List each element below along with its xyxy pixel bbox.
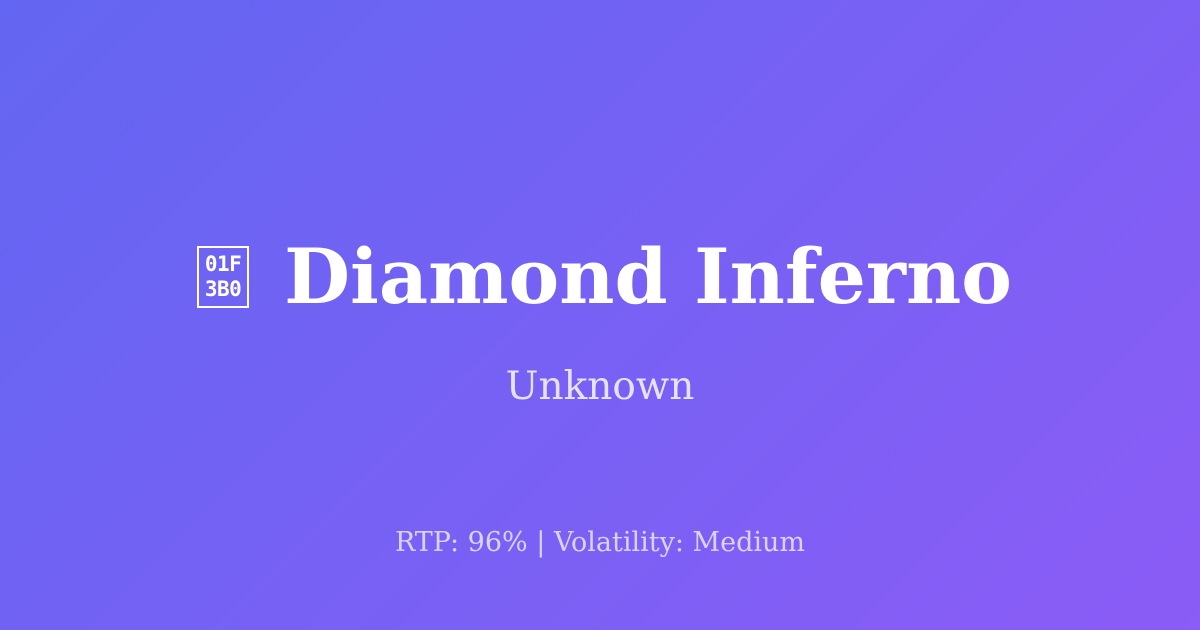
game-og-card: 01F 3B0 Diamond Inferno Unknown RTP: 96%… — [0, 0, 1200, 630]
tofu-hex-top: 01F — [205, 252, 241, 277]
tofu-box: 01F 3B0 — [197, 246, 249, 308]
slot-machine-icon: 01F 3B0 — [188, 241, 258, 313]
tofu-hex-bottom: 3B0 — [205, 277, 241, 302]
game-subtitle: Unknown — [0, 363, 1200, 411]
game-title: Diamond Inferno — [284, 237, 1012, 317]
game-stats: RTP: 96% | Volatility: Medium — [0, 526, 1200, 560]
title-row: 01F 3B0 Diamond Inferno — [0, 237, 1200, 317]
